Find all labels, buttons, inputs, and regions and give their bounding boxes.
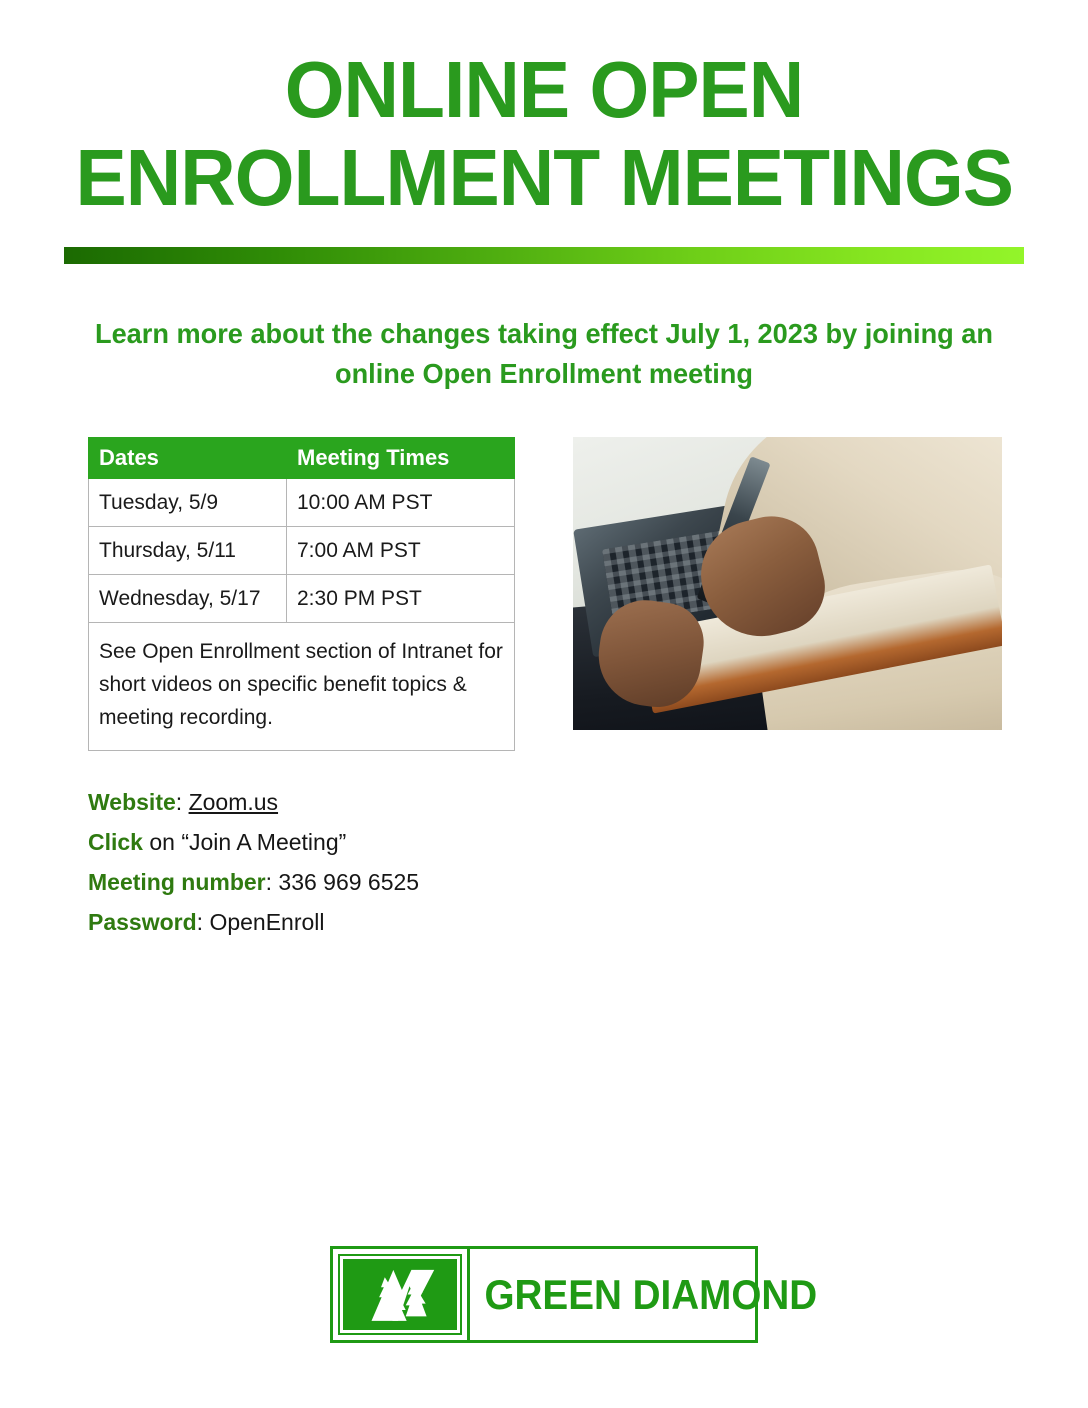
table-note: See Open Enrollment section of Intranet … bbox=[89, 623, 515, 751]
password-value: OpenEnroll bbox=[209, 909, 324, 935]
table-row: Wednesday, 5/17 2:30 PM PST bbox=[89, 575, 515, 623]
website-link[interactable]: Zoom.us bbox=[189, 789, 278, 815]
table-row: Thursday, 5/11 7:00 AM PST bbox=[89, 527, 515, 575]
table-header-row: Dates Meeting Times bbox=[89, 438, 515, 479]
logo-wordmark: GREEN DIAMOND bbox=[484, 1271, 817, 1319]
password-label: Password bbox=[88, 909, 197, 935]
click-instruction: on “Join A Meeting” bbox=[143, 829, 346, 855]
contact-line-website: Website: Zoom.us bbox=[88, 782, 648, 822]
title-line-1: ONLINE OPEN bbox=[76, 46, 1013, 134]
meeting-number-value: 336 969 6525 bbox=[278, 869, 419, 895]
cell-date: Tuesday, 5/9 bbox=[89, 479, 287, 527]
cell-time: 7:00 AM PST bbox=[287, 527, 515, 575]
cell-time: 10:00 AM PST bbox=[287, 479, 515, 527]
cell-date: Thursday, 5/11 bbox=[89, 527, 287, 575]
page-title: ONLINE OPEN ENROLLMENT MEETINGS bbox=[56, 46, 1032, 222]
meeting-number-label: Meeting number bbox=[88, 869, 266, 895]
table-note-row: See Open Enrollment section of Intranet … bbox=[89, 623, 515, 751]
contact-line-meeting-number: Meeting number: 336 969 6525 bbox=[88, 862, 648, 902]
contact-details: Website: Zoom.us Click on “Join A Meetin… bbox=[88, 782, 648, 942]
title-line-2: ENROLLMENT MEETINGS bbox=[76, 134, 1013, 222]
cell-date: Wednesday, 5/17 bbox=[89, 575, 287, 623]
contact-line-click: Click on “Join A Meeting” bbox=[88, 822, 648, 862]
green-diamond-mark-icon bbox=[340, 1256, 460, 1333]
column-header-dates: Dates bbox=[89, 438, 287, 479]
password-separator: : bbox=[197, 909, 210, 935]
page-subtitle: Learn more about the changes taking effe… bbox=[88, 314, 1000, 394]
contact-line-password: Password: OpenEnroll bbox=[88, 902, 648, 942]
meeting-photo bbox=[573, 437, 1002, 730]
column-header-meeting-times: Meeting Times bbox=[287, 438, 515, 479]
green-diamond-logo: GREEN DIAMOND bbox=[330, 1246, 758, 1343]
schedule-table: Dates Meeting Times Tuesday, 5/9 10:00 A… bbox=[88, 437, 515, 751]
website-label: Website bbox=[88, 789, 176, 815]
meeting-number-separator: : bbox=[266, 869, 279, 895]
click-label: Click bbox=[88, 829, 143, 855]
gradient-divider bbox=[64, 247, 1024, 264]
logo-divider bbox=[467, 1246, 470, 1343]
table-row: Tuesday, 5/9 10:00 AM PST bbox=[89, 479, 515, 527]
cell-time: 2:30 PM PST bbox=[287, 575, 515, 623]
flyer-page: ONLINE OPEN ENROLLMENT MEETINGS Learn mo… bbox=[0, 0, 1088, 1408]
website-separator: : bbox=[176, 789, 189, 815]
